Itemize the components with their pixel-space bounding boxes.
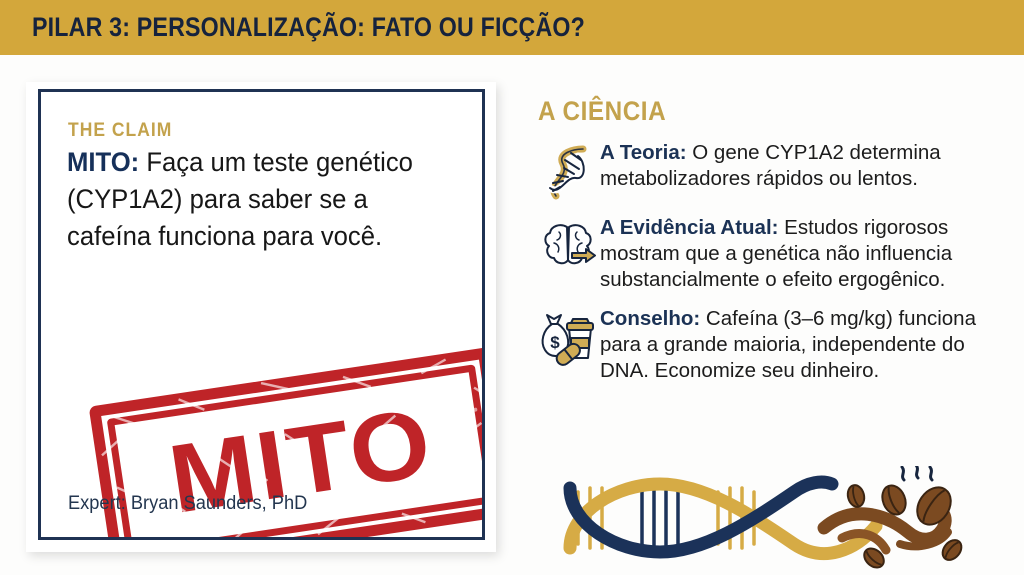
page-title: PILAR 3: PERSONALIZAÇÃO: FATO OU FICÇÃO? [32,11,585,43]
dna-coffee-swirl-illustration [556,466,1006,570]
science-item-text: A Evidência Atual: Estudos rigorosos mos… [600,213,992,293]
expert-credit: Expert: Bryan Saunders, PhD [68,493,307,515]
science-item-lead: Conselho: [600,307,700,330]
science-item-conselho: $ Conselho: Cafeína (3–6 mg/kg) funciona… [538,304,1008,384]
science-item-lead: A Teoria: [600,141,687,164]
money-bag-coffee-pill-icon: $ [538,310,600,368]
claim-card-panel: THE CLAIM MITO: Faça um teste genético (… [26,82,496,552]
science-item-evidencia: A Evidência Atual: Estudos rigorosos mos… [538,213,1008,293]
science-item-text: A Teoria: O gene CYP1A2 determina metabo… [600,138,992,192]
claim-card: THE CLAIM MITO: Faça um teste genético (… [38,89,485,540]
header-bar: PILAR 3: PERSONALIZAÇÃO: FATO OU FICÇÃO? [0,0,1024,55]
claim-lead: MITO: [67,147,139,177]
brain-arrow-icon [538,219,600,277]
claim-label: THE CLAIM [68,120,172,142]
science-item-teoria: A Teoria: O gene CYP1A2 determina metabo… [538,138,1008,202]
claim-statement: MITO: Faça um teste genético (CYP1A2) pa… [67,144,447,255]
science-item-lead: A Evidência Atual: [600,216,778,239]
science-item-text: Conselho: Cafeína (3–6 mg/kg) funciona p… [600,304,992,384]
svg-text:$: $ [550,333,560,352]
dna-helix-icon [538,144,600,202]
science-heading: A CIÊNCIA [538,96,961,126]
science-column: A CIÊNCIA A Teor [538,96,1008,395]
